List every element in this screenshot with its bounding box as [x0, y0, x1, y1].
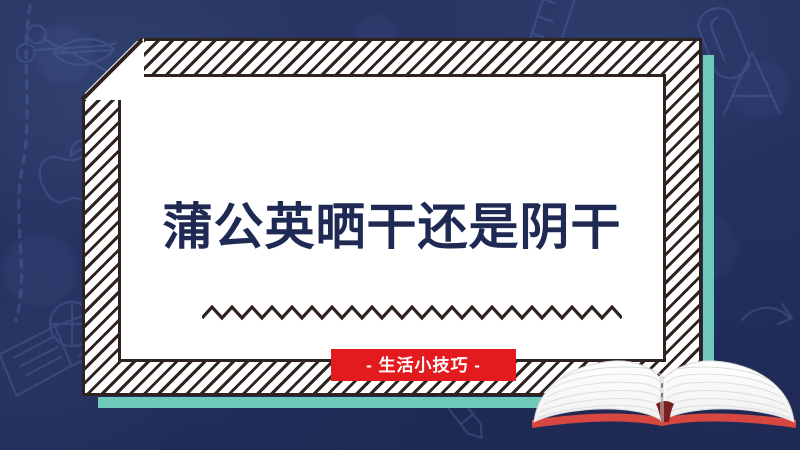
arrow-doodle	[742, 304, 792, 324]
dashed-cut-line-doodle	[16, 6, 30, 320]
card-content: 蒲公英晒干还是阴干 - 生活小技巧 -	[118, 74, 666, 362]
slide-canvas: 蒲公英晒干还是阴干 - 生活小技巧 -	[0, 0, 800, 450]
compass-doodle	[724, 52, 780, 114]
zigzag-divider	[202, 304, 622, 322]
status-badge: - 生活小技巧 -	[331, 349, 516, 381]
page-title: 蒲公英晒干还是阴干	[118, 202, 666, 252]
open-book-illustration	[528, 352, 800, 450]
